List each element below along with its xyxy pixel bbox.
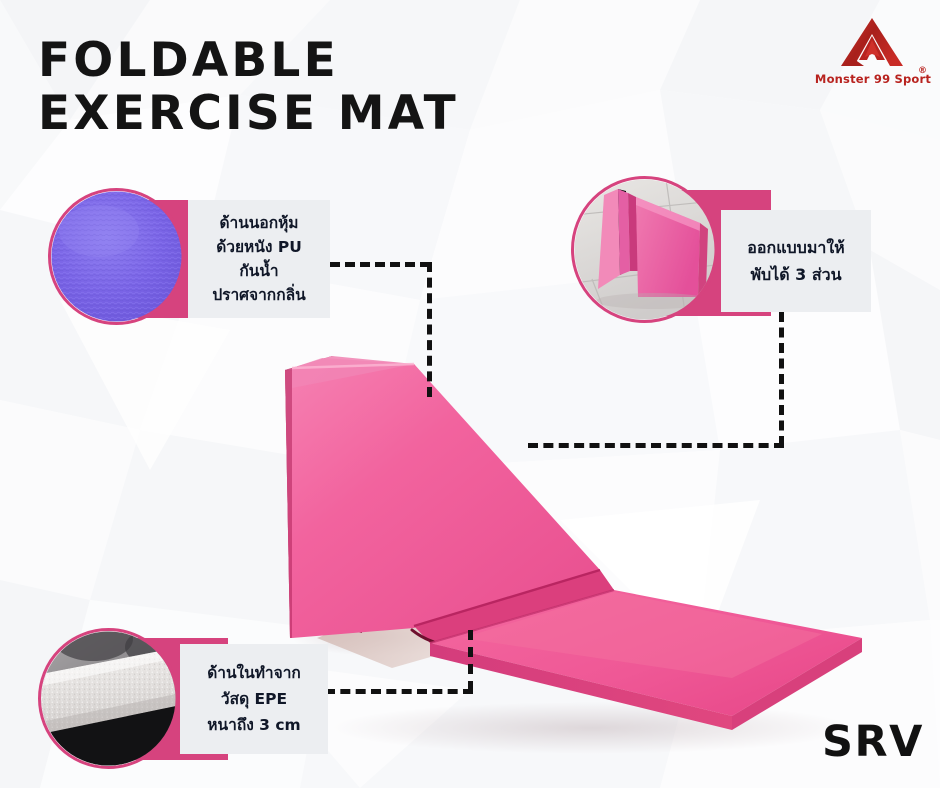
callout-pu-leather: ด้านนอกหุ้ม ด้วยหนัง PU กันน้ำ ปราศจากกล… [48,188,330,318]
page-title: FOLDABLE EXERCISE MAT [38,34,598,140]
callout-fold-image [571,176,718,323]
triangle-mountain-logo-icon [840,16,904,70]
connector-line-epe-horizontal [325,689,473,694]
brand-name: Monster 99 Sport [812,72,934,86]
connector-line-pu-horizontal [330,262,430,267]
callout-pu-image [48,188,185,325]
callout-epe-text: ด้านในทำจาก วัสดุ EPE หนาถึง 3 cm [207,660,301,738]
callout-epe-foam: ด้านในทำจาก วัสดุ EPE หนาถึง 3 cm [38,628,328,768]
product-image-foldable-mat [262,338,882,758]
poster-canvas: FOLDABLE EXERCISE MAT ® Monster 99 Sport [0,0,940,788]
srv-watermark: SRV [822,717,924,767]
connector-line-fold-horizontal [528,443,784,448]
connector-line-pu-vertical [427,262,432,397]
callout-three-fold: ออกแบบมาให้ พับได้ 3 ส่วน [571,176,871,316]
callout-fold-text: ออกแบบมาให้ พับได้ 3 ส่วน [747,234,844,288]
callout-pu-text: ด้านนอกหุ้ม ด้วยหนัง PU กันน้ำ ปราศจากกล… [212,211,305,307]
callout-epe-text-panel: ด้านในทำจาก วัสดุ EPE หนาถึง 3 cm [180,644,328,754]
callout-epe-image [38,628,179,769]
connector-line-fold-vertical [779,312,784,446]
connector-line-epe-vertical [468,630,473,691]
callout-fold-text-panel: ออกแบบมาให้ พับได้ 3 ส่วน [721,210,871,312]
callout-pu-text-panel: ด้านนอกหุ้ม ด้วยหนัง PU กันน้ำ ปราศจากกล… [188,200,330,318]
brand-logo: ® Monster 99 Sport [812,16,934,108]
